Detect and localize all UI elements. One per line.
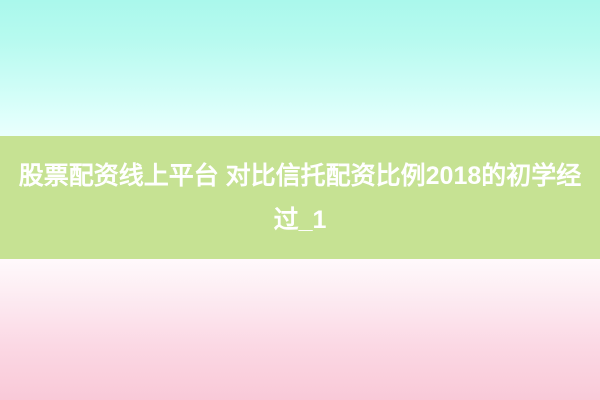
banner-image: 股票配资线上平台 对比信托配资比例2018的初学经过_1: [0, 0, 600, 400]
green-title-band: 股票配资线上平台 对比信托配资比例2018的初学经过_1: [0, 136, 600, 259]
cyan-gradient-band: [0, 0, 600, 136]
banner-title: 股票配资线上平台 对比信托配资比例2018的初学经过_1: [14, 154, 586, 242]
pink-gradient-band: [0, 259, 600, 400]
